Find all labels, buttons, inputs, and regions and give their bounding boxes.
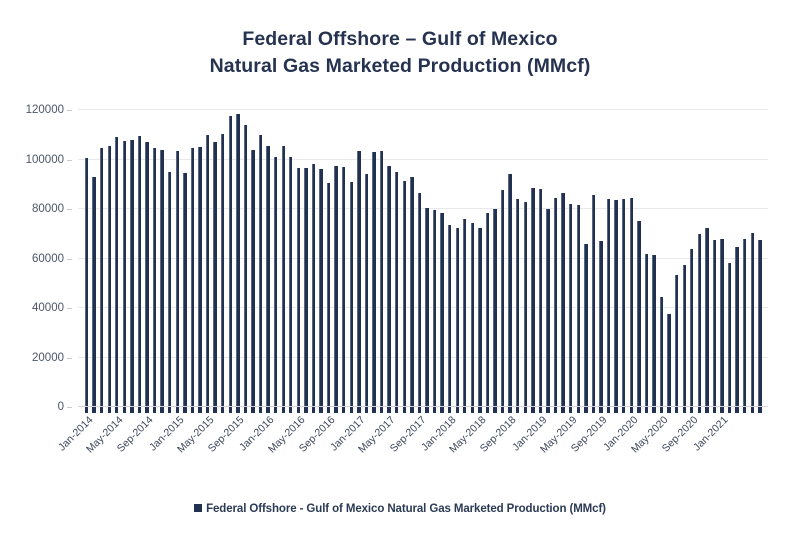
bar[interactable] [418,193,421,407]
bar[interactable] [440,213,443,407]
x-axis-tick-mark [289,407,292,413]
bar[interactable] [289,157,292,407]
bar[interactable] [380,151,383,407]
bar[interactable] [130,140,133,407]
bar[interactable] [123,141,126,407]
bar[interactable] [282,146,285,407]
bar[interactable] [372,152,375,407]
x-axis-tick-mark [365,407,368,413]
x-axis-tick-mark [387,407,390,413]
x-axis-tick-mark [282,407,285,413]
x-axis-tick-mark [403,407,406,413]
x-axis-tick-mark [274,407,277,413]
bar[interactable] [304,168,307,407]
bar[interactable] [508,174,511,407]
x-axis-tick-mark [561,407,564,413]
bar[interactable] [728,263,731,407]
bar[interactable] [395,172,398,407]
bar[interactable] [319,169,322,407]
bar[interactable] [630,198,633,407]
x-axis-tick-mark [440,407,443,413]
bars-layer [78,110,768,407]
bar[interactable] [652,255,655,407]
x-axis-tick-mark [176,407,179,413]
x-axis-tick-mark [599,407,602,413]
x-axis-tick-mark [153,407,156,413]
x-axis-tick-mark [92,407,95,413]
bar[interactable] [168,172,171,407]
x-axis-tick-mark [660,407,663,413]
x-axis-tick-mark [108,407,111,413]
bar[interactable] [274,157,277,407]
x-axis-tick-mark [319,407,322,413]
chart-title: Federal Offshore – Gulf of Mexico Natura… [0,26,800,80]
bar[interactable] [213,142,216,407]
x-axis-tick-mark [183,407,186,413]
bar[interactable] [546,209,549,407]
bar[interactable] [478,228,481,407]
bar[interactable] [387,166,390,407]
bar[interactable] [425,208,428,407]
x-axis-tick-mark [259,407,262,413]
y-axis-tick-mark [67,110,72,111]
bar[interactable] [266,146,269,407]
bar[interactable] [229,116,232,407]
x-axis-tick-mark [698,407,701,413]
x-axis-tick-mark [327,407,330,413]
bar[interactable] [599,241,602,407]
bar[interactable] [433,210,436,407]
bar[interactable] [584,244,587,407]
x-axis-tick-mark [607,407,610,413]
bar[interactable] [592,195,595,407]
x-axis-tick-mark [115,407,118,413]
bar[interactable] [705,228,708,407]
x-axis-tick-mark [758,407,761,413]
bar[interactable] [251,150,254,407]
bar[interactable] [713,240,716,407]
x-axis-labels: Jan-2014May-2014Sep-2014Jan-2015May-2015… [0,414,800,480]
bar[interactable] [524,202,527,407]
bar[interactable] [743,239,746,407]
x-axis-tick-mark [683,407,686,413]
bar[interactable] [660,297,663,407]
legend-swatch-icon [194,504,202,512]
bar[interactable] [297,168,300,407]
x-axis-tick-mark [471,407,474,413]
bar[interactable] [365,174,368,407]
x-axis-tick-mark [614,407,617,413]
x-axis-tick-mark [667,407,670,413]
x-axis-tick-mark [251,407,254,413]
bar[interactable] [108,146,111,407]
x-axis-tick-mark [433,407,436,413]
x-axis-tick-mark [690,407,693,413]
bar[interactable] [486,213,489,407]
x-axis-tick-mark [637,407,640,413]
bar[interactable] [206,135,209,407]
bar[interactable] [403,181,406,407]
x-axis-tick-mark [342,407,345,413]
bar[interactable] [539,189,542,407]
bar[interactable] [183,173,186,407]
x-axis-tick-mark [213,407,216,413]
bar[interactable] [153,148,156,407]
x-axis-tick-mark [577,407,580,413]
y-axis-tick-label: 0 [58,401,64,413]
bar[interactable] [561,193,564,407]
x-axis-tick-mark [516,407,519,413]
x-axis-tick-mark [735,407,738,413]
y-axis-tick-mark [67,259,72,260]
bar[interactable] [342,167,345,407]
x-axis-tick-mark [448,407,451,413]
bar[interactable] [675,275,678,407]
x-axis-tick-mark [675,407,678,413]
bar[interactable] [327,183,330,407]
x-axis-tick-mark [418,407,421,413]
x-axis-tick-mark [554,407,557,413]
x-axis-tick-mark [130,407,133,413]
x-axis-tick-mark [622,407,625,413]
y-axis-tick-mark [67,407,72,408]
x-axis-tick-mark [592,407,595,413]
bar[interactable] [410,177,413,407]
y-axis: 020000400006000080000100000120000 [0,110,72,407]
bar[interactable] [751,233,754,407]
x-axis-tick-mark [508,407,511,413]
bar[interactable] [667,314,670,407]
y-axis-tick-label: 40000 [32,302,64,314]
bar[interactable] [607,199,610,407]
y-axis-tick-mark [67,308,72,309]
bar[interactable] [100,148,103,407]
bar[interactable] [85,158,88,407]
x-axis-tick-marks [78,407,768,414]
x-axis-tick-mark [138,407,141,413]
x-axis-tick-mark [221,407,224,413]
x-axis-tick-mark [630,407,633,413]
y-axis-tick-label: 120000 [26,104,64,116]
bar[interactable] [176,151,179,407]
x-axis-tick-mark [478,407,481,413]
bar[interactable] [493,209,496,407]
bar[interactable] [312,164,315,407]
x-axis-tick-mark [145,407,148,413]
bar[interactable] [456,228,459,407]
x-axis-tick-mark [160,407,163,413]
x-axis-tick-mark [312,407,315,413]
chart-legend: Federal Offshore - Gulf of Mexico Natura… [0,503,800,515]
x-axis-tick-mark [357,407,360,413]
y-axis-tick-label: 100000 [26,154,64,166]
y-axis-tick-label: 20000 [32,352,64,364]
x-axis-tick-mark [229,407,232,413]
bar[interactable] [448,225,451,407]
bar[interactable] [357,151,360,407]
x-axis-tick-mark [501,407,504,413]
x-axis-tick-mark [425,407,428,413]
bar[interactable] [350,182,353,407]
x-axis-tick-mark [728,407,731,413]
x-axis-tick-mark [645,407,648,413]
bar[interactable] [554,198,557,407]
bar[interactable] [198,147,201,407]
x-axis-tick-mark [198,407,201,413]
bar[interactable] [191,148,194,407]
x-axis-tick-mark [546,407,549,413]
x-axis-tick-mark [168,407,171,413]
chart-container: Federal Offshore – Gulf of Mexico Natura… [0,0,800,556]
bar[interactable] [637,221,640,407]
bar[interactable] [614,200,617,407]
x-axis-tick-mark [463,407,466,413]
x-axis-tick-mark [123,407,126,413]
y-axis-tick-label: 80000 [32,203,64,215]
x-axis-tick-mark [652,407,655,413]
bar[interactable] [236,114,239,407]
x-axis-tick-mark [410,407,413,413]
y-axis-tick-label: 60000 [32,253,64,265]
bar[interactable] [145,142,148,407]
x-axis-tick-mark [751,407,754,413]
bar[interactable] [698,234,701,407]
x-axis-tick-mark [266,407,269,413]
x-axis-tick-mark [524,407,527,413]
x-axis-tick-mark [531,407,534,413]
x-axis-tick-mark [244,407,247,413]
x-axis-tick-mark [380,407,383,413]
bar[interactable] [259,135,262,407]
legend-label: Federal Offshore - Gulf of Mexico Natura… [206,503,606,515]
bar[interactable] [138,136,141,407]
x-axis-tick-mark [395,407,398,413]
x-axis-tick-mark [569,407,572,413]
bar[interactable] [569,204,572,407]
x-axis-tick-mark [350,407,353,413]
bar[interactable] [92,177,95,407]
bar[interactable] [501,190,504,407]
x-axis-tick-mark [720,407,723,413]
bar[interactable] [735,247,738,407]
bar[interactable] [577,205,580,407]
bar[interactable] [758,240,761,407]
plot-area [78,110,768,407]
bar[interactable] [720,239,723,407]
x-axis-tick-mark [705,407,708,413]
bar[interactable] [221,134,224,407]
x-axis-tick-mark [743,407,746,413]
bar[interactable] [645,254,648,407]
bar[interactable] [622,199,625,407]
x-axis-tick-mark [713,407,716,413]
x-axis-tick-mark [191,407,194,413]
bar[interactable] [334,166,337,407]
bar[interactable] [531,188,534,407]
x-axis-tick-mark [493,407,496,413]
x-axis-tick-mark [486,407,489,413]
x-axis-tick-mark [539,407,542,413]
y-axis-tick-mark [67,358,72,359]
x-axis-tick-mark [236,407,239,413]
bar[interactable] [160,150,163,407]
y-axis-tick-mark [67,209,72,210]
x-axis-tick-mark [100,407,103,413]
x-axis-tick-mark [584,407,587,413]
bar[interactable] [463,219,466,407]
x-axis-tick-mark [304,407,307,413]
bar[interactable] [471,223,474,407]
bar[interactable] [690,249,693,407]
chart-title-line-1: Federal Offshore – Gulf of Mexico [0,26,800,53]
x-axis-tick-mark [297,407,300,413]
chart-title-line-2: Natural Gas Marketed Production (MMcf) [0,53,800,80]
x-axis-tick-mark [456,407,459,413]
x-axis-tick-mark [206,407,209,413]
x-axis-tick-mark [85,407,88,413]
x-axis-tick-mark [334,407,337,413]
bar[interactable] [683,265,686,407]
bar[interactable] [244,125,247,407]
x-axis-tick-mark [372,407,375,413]
bar[interactable] [115,137,118,407]
bar[interactable] [516,199,519,407]
y-axis-tick-mark [67,160,72,161]
